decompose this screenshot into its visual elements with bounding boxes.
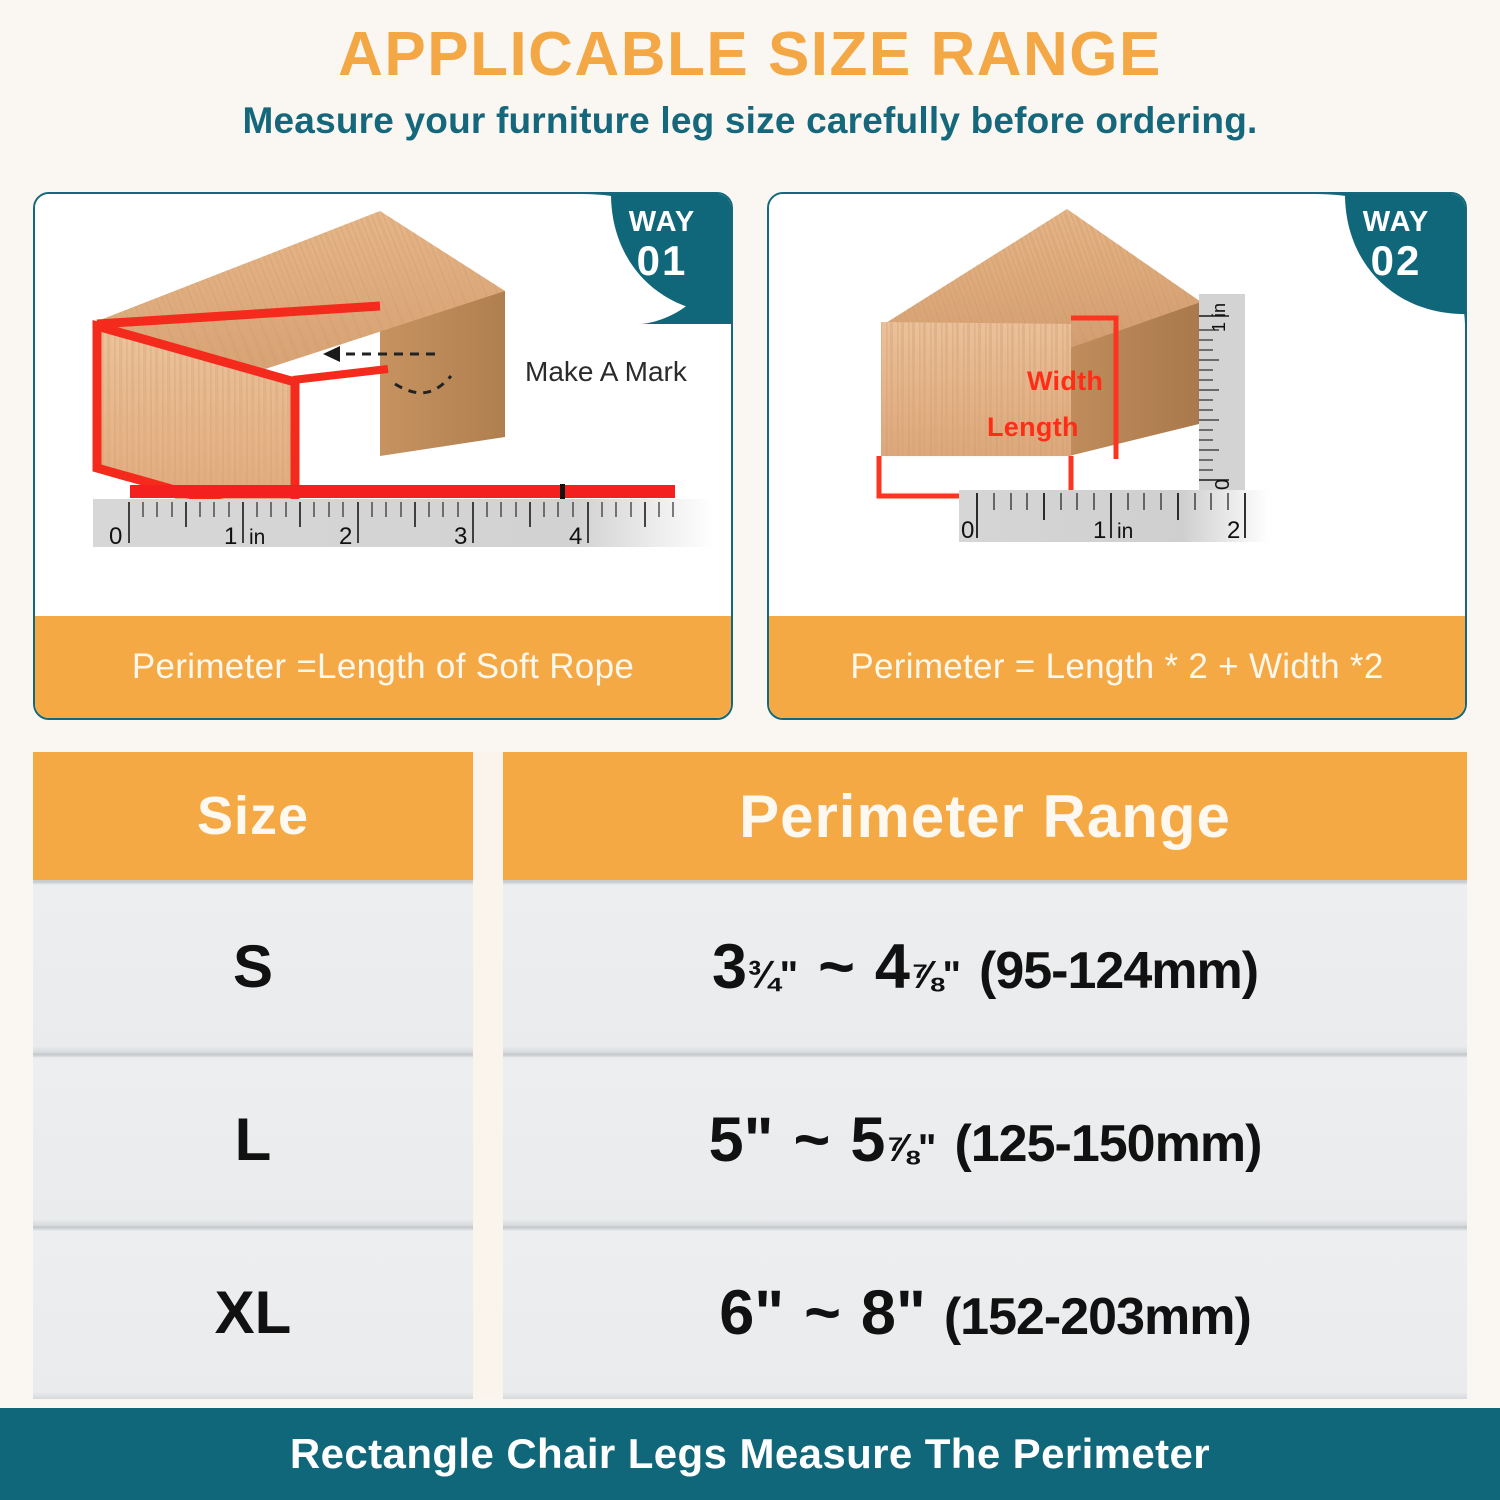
- make-a-mark-label: Make A Mark: [525, 356, 687, 388]
- range-high-fraction: ⅞": [885, 1127, 936, 1171]
- ruler1-tick-4: 4: [569, 523, 582, 549]
- table-row: L 5" ~ 5⅞" (125-150mm): [33, 1053, 1467, 1226]
- ruler1-tick-3: 3: [454, 523, 467, 549]
- size-range-table: Size Perimeter Range S 3¾" ~ 4⅞" (95-124…: [33, 752, 1467, 1410]
- table-cell-size: XL: [33, 1226, 473, 1399]
- way-02-caption: Perimeter = Length * 2 + Width *2: [769, 616, 1465, 718]
- table-cell-range: 3¾" ~ 4⅞" (95-124mm): [503, 880, 1467, 1053]
- range-separator: ~: [818, 931, 855, 1003]
- table-column-gap: [473, 752, 503, 880]
- page-header: APPLICABLE SIZE RANGE Measure your furni…: [0, 0, 1500, 142]
- ruler2-tick-in: in: [1117, 520, 1133, 543]
- table-cell-size: S: [33, 880, 473, 1053]
- vruler2-tick-0: 0: [1212, 479, 1234, 490]
- width-label: Width: [1027, 366, 1103, 397]
- ruler1-tick-in: in: [249, 526, 265, 549]
- way-02-illustration: Width Length: [769, 194, 1465, 618]
- table-column-gap: [473, 1053, 503, 1226]
- wood-block-svg-2: [769, 194, 1465, 618]
- range-separator: ~: [794, 1104, 831, 1176]
- ruler-horizontal-2: 0 1 in 2: [959, 490, 1269, 550]
- soft-rope-bar: [130, 485, 675, 498]
- range-separator: ~: [804, 1277, 841, 1349]
- range-high-whole: 5: [850, 1104, 885, 1176]
- ruler1-tick-0: 0: [109, 523, 122, 549]
- table-cell-size: L: [33, 1053, 473, 1226]
- range-high-fraction: ⅞": [910, 954, 961, 998]
- table-cell-range: 6" ~ 8" (152-203mm): [503, 1226, 1467, 1399]
- range-low-whole: 6": [719, 1277, 784, 1349]
- ruler2-tick-1: 1: [1093, 517, 1106, 544]
- way-02-panel: Width Length: [767, 192, 1467, 720]
- range-low-fraction: ¾": [747, 954, 798, 998]
- range-millimeters: (125-150mm): [954, 1114, 1261, 1174]
- wood-block-svg-1: [35, 194, 731, 618]
- length-label: Length: [987, 412, 1079, 443]
- range-high-whole: 4: [875, 931, 910, 1003]
- range-low-whole: 3: [712, 931, 747, 1003]
- ruler-svg-2: 0 1 in 2: [959, 490, 1269, 546]
- range-low-whole: 5": [709, 1104, 774, 1176]
- way-01-panel: Make A Mark: [33, 192, 733, 720]
- ruler1-tick-2: 2: [339, 523, 352, 549]
- ruler-vertical-2: 0 1 in: [1199, 294, 1245, 499]
- table-cell-range: 5" ~ 5⅞" (125-150mm): [503, 1053, 1467, 1226]
- table-row: S 3¾" ~ 4⅞" (95-124mm): [33, 880, 1467, 1053]
- ruler-svg-1: 0 1 in 2 3 4: [93, 499, 713, 549]
- table-row: XL 6" ~ 8" (152-203mm): [33, 1226, 1467, 1399]
- vruler-svg-2: 0 1 in: [1199, 294, 1245, 499]
- page-title: APPLICABLE SIZE RANGE: [0, 22, 1500, 87]
- measuring-methods-panels: Make A Mark: [0, 192, 1500, 732]
- ruler1-tick-1: 1: [224, 523, 237, 549]
- wood-block-diagram-1: [35, 194, 731, 618]
- table-column-gap: [473, 1226, 503, 1399]
- vruler2-tick-1in: 1 in: [1209, 303, 1229, 332]
- way-01-caption: Perimeter =Length of Soft Rope: [35, 616, 731, 718]
- page-subtitle: Measure your furniture leg size carefull…: [0, 101, 1500, 142]
- range-millimeters: (95-124mm): [979, 941, 1258, 1001]
- rope-measure-tick: [560, 484, 565, 499]
- table-column-gap: [473, 880, 503, 1053]
- range-high-whole: 8": [861, 1277, 926, 1349]
- table-header-size: Size: [33, 752, 473, 880]
- table-header-row: Size Perimeter Range: [33, 752, 1467, 880]
- table-header-perimeter-range: Perimeter Range: [503, 752, 1467, 880]
- footer-banner: Rectangle Chair Legs Measure The Perimet…: [0, 1408, 1500, 1500]
- ruler-horizontal-1: 0 1 in 2 3 4: [93, 485, 713, 547]
- ruler2-tick-0: 0: [961, 517, 974, 544]
- range-millimeters: (152-203mm): [944, 1287, 1251, 1347]
- ruler2-tick-2: 2: [1227, 517, 1240, 544]
- wood-block-diagram-2: [769, 194, 1465, 618]
- way-01-illustration: Make A Mark: [35, 194, 731, 618]
